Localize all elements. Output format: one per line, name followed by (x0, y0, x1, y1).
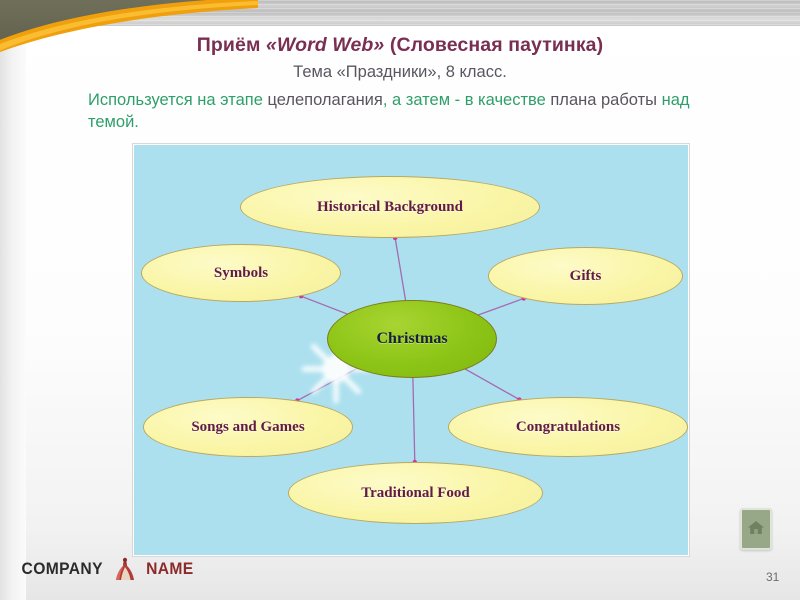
title-pre: Приём (197, 34, 266, 56)
lead-paragraph: Используется на этапе целеполагания, а з… (0, 89, 800, 133)
page-number: 31 (766, 570, 779, 584)
lead-segment-2-highlight: целеполагания (267, 91, 382, 109)
slide-header: Приём «Word Web» (Словесная паутинка) Те… (0, 0, 800, 133)
diagram-node-historical-background[interactable]: Historical Background (240, 176, 540, 238)
home-icon (746, 517, 766, 542)
page-title: Приём «Word Web» (Словесная паутинка) (0, 34, 800, 57)
lead-segment-3: , а затем - в качестве (383, 91, 551, 109)
lead-segment-4-highlight: плана работы (550, 91, 657, 109)
slide-canvas: Приём «Word Web» (Словесная паутинка) Те… (0, 0, 800, 600)
company-logo-mark-icon (110, 554, 140, 584)
logo-word-company: COMPANY (22, 559, 103, 579)
company-logo: COMPANY NAME (18, 552, 204, 586)
diagram-node-christmas[interactable]: Christmas (327, 300, 497, 378)
diagram-node-symbols[interactable]: Symbols (141, 244, 341, 302)
home-button[interactable] (740, 508, 772, 550)
page-subtitle: Тема «Праздники», 8 класс. (0, 63, 800, 82)
diagram-node-label: Symbols (214, 265, 268, 282)
diagram-node-label: Christmas (376, 330, 447, 348)
diagram-node-label: Historical Background (317, 199, 463, 216)
lead-segment-1: Используется на этапе (88, 91, 267, 109)
diagram-node-congratulations[interactable]: Congratulations (448, 397, 688, 457)
diagram-node-songs-and-games[interactable]: Songs and Games (143, 397, 353, 457)
diagram-node-label: Congratulations (516, 419, 620, 436)
diagram-node-label: Songs and Games (191, 419, 304, 436)
diagram-node-label: Traditional Food (361, 485, 470, 502)
word-web-diagram: Christmas Historical BackgroundSymbolsGi… (132, 143, 690, 557)
title-latin: «Word Web» (266, 34, 384, 56)
diagram-node-traditional-food[interactable]: Traditional Food (288, 462, 543, 524)
title-post: (Словесная паутинка) (384, 34, 603, 56)
diagram-node-gifts[interactable]: Gifts (488, 247, 683, 305)
logo-word-name: NAME (147, 559, 195, 579)
diagram-node-label: Gifts (570, 268, 602, 285)
